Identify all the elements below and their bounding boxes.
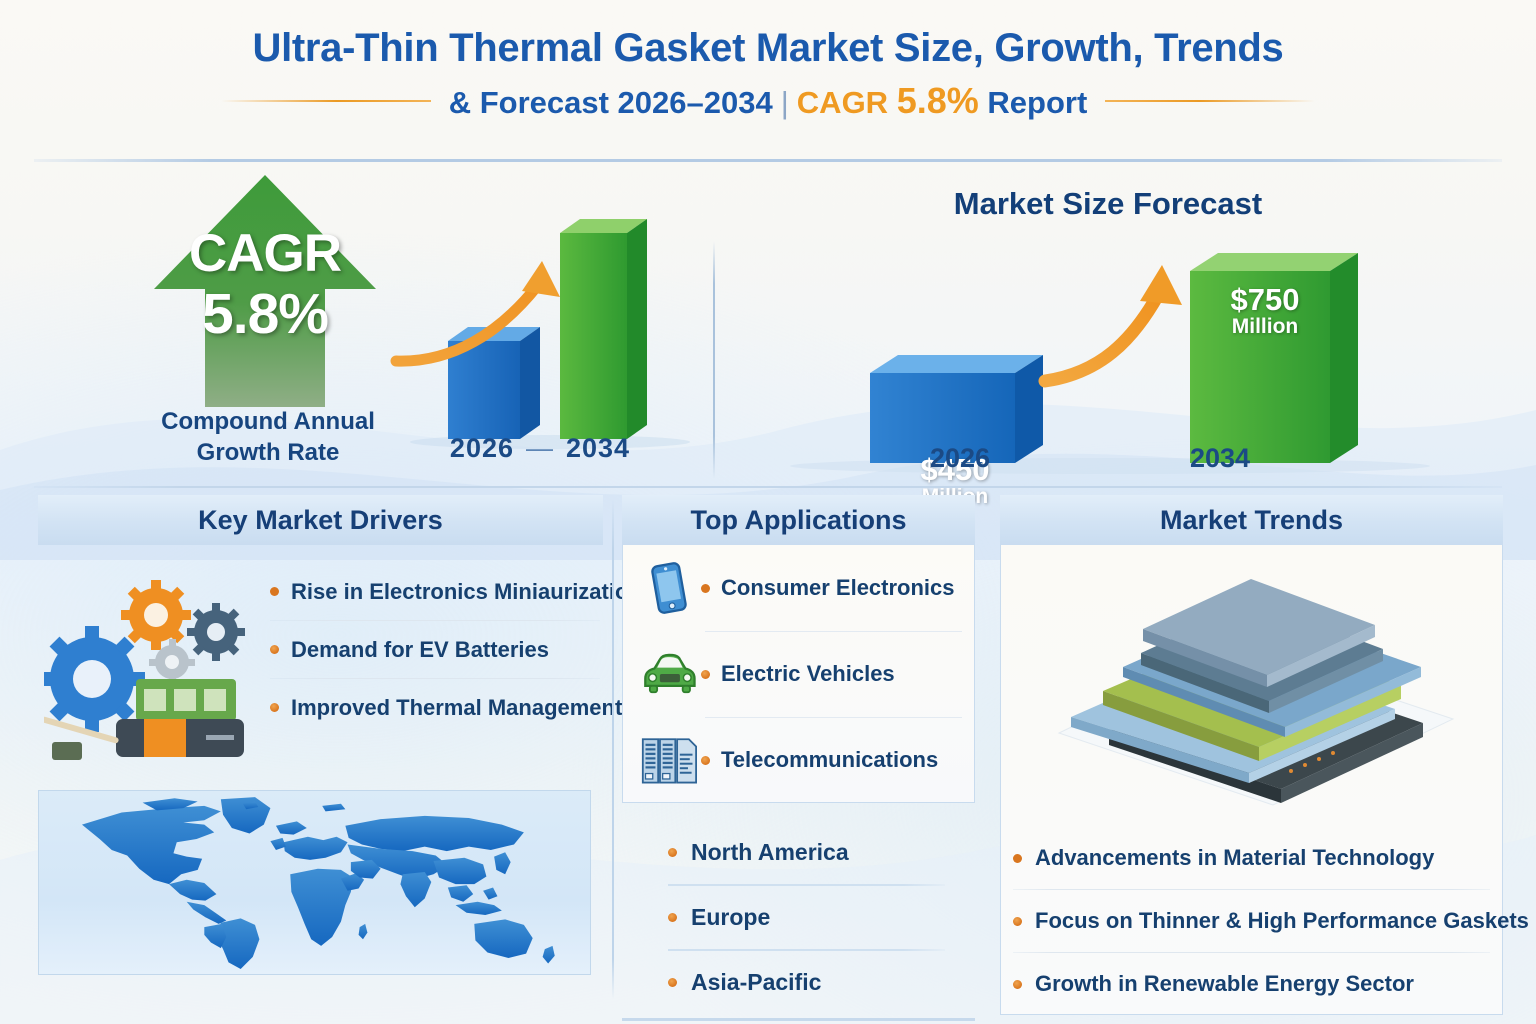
cagr-year-start: 2026 bbox=[450, 433, 514, 463]
regions-bottom-rule bbox=[622, 1018, 975, 1021]
cagr-year-axis: 2026—2034 bbox=[390, 433, 690, 464]
bullet-icon bbox=[270, 645, 279, 654]
cagr-highlight: CAGR 5.8% Compound Annual Growth Rate bbox=[150, 171, 380, 471]
header-divider bbox=[34, 159, 1502, 162]
gear-orange bbox=[121, 580, 191, 650]
gear-large bbox=[44, 626, 145, 732]
application-separator-2 bbox=[705, 717, 962, 718]
trends-column: Market Trends bbox=[1000, 495, 1503, 1015]
cagr-year-end: 2034 bbox=[566, 433, 630, 463]
application-separator-1 bbox=[705, 631, 962, 632]
forecast-bar-2034-label: $750 Million bbox=[1185, 283, 1345, 339]
trend-label-2: Focus on Thinner & High Performance Gask… bbox=[1035, 908, 1529, 934]
page-header: Ultra-Thin Thermal Gasket Market Size, G… bbox=[0, 0, 1536, 160]
application-label-wrap-1: Consumer Electronics bbox=[701, 575, 955, 601]
trend-label-1: Advancements in Material Technology bbox=[1035, 845, 1434, 871]
infographic-page: Ultra-Thin Thermal Gasket Market Size, G… bbox=[0, 0, 1536, 1024]
smartphone-icon bbox=[637, 556, 701, 620]
gear-dark bbox=[187, 603, 245, 661]
region-label-1: North America bbox=[691, 839, 849, 866]
applications-list: Consumer Electronics bbox=[622, 545, 975, 803]
driver-item-3[interactable]: Improved Thermal Management bbox=[270, 679, 600, 736]
bullet-icon bbox=[1013, 917, 1022, 926]
page-subtitle: & Forecast 2026–2034|CAGR 5.8% Report bbox=[449, 80, 1088, 122]
bullet-icon bbox=[701, 584, 710, 593]
car-icon bbox=[637, 642, 701, 706]
gears-and-components-icon bbox=[44, 567, 259, 767]
top-section-bottom-divider bbox=[34, 486, 1502, 488]
application-label-wrap-2: Electric Vehicles bbox=[701, 661, 895, 687]
bullet-icon bbox=[701, 670, 710, 679]
trend-label-3: Growth in Renewable Energy Sector bbox=[1035, 971, 1414, 997]
bullet-icon bbox=[270, 587, 279, 596]
region-label-3: Asia-Pacific bbox=[691, 969, 821, 996]
bullet-icon bbox=[1013, 980, 1022, 989]
driver-item-2[interactable]: Demand for EV Batteries bbox=[270, 621, 600, 678]
trends-content: Advancements in Material Technology Focu… bbox=[1000, 545, 1503, 1015]
drivers-content: Rise in Electronics Miniaurization Deman… bbox=[38, 545, 603, 785]
cagr-caption-line1: Compound Annual bbox=[128, 407, 408, 438]
applications-title: Top Applications bbox=[622, 495, 975, 545]
bullet-icon bbox=[668, 848, 677, 857]
application-label-wrap-3: Telecommunications bbox=[701, 747, 938, 773]
probe bbox=[44, 716, 119, 744]
bullet-icon bbox=[668, 913, 677, 922]
bullet-icon bbox=[701, 756, 710, 765]
subtitle-divider: | bbox=[781, 85, 789, 120]
page-title: Ultra-Thin Thermal Gasket Market Size, G… bbox=[0, 0, 1536, 70]
forecast-bar-2034-unit: Million bbox=[1185, 316, 1345, 339]
middle-column-divider bbox=[612, 499, 614, 999]
trend-item-2[interactable]: Focus on Thinner & High Performance Gask… bbox=[1013, 890, 1490, 952]
subtitle-rule-left bbox=[221, 100, 431, 102]
cagr-year-dash: — bbox=[526, 433, 554, 463]
application-label-1: Consumer Electronics bbox=[721, 575, 955, 601]
forecast-xtick-2026: 2026 bbox=[900, 443, 1020, 474]
small-chip bbox=[52, 742, 82, 760]
trend-item-1[interactable]: Advancements in Material Technology bbox=[1013, 827, 1490, 889]
top-section-vertical-divider bbox=[713, 241, 715, 479]
driver-item-1[interactable]: Rise in Electronics Miniaurization bbox=[270, 563, 600, 620]
forecast-title: Market Size Forecast bbox=[713, 186, 1503, 222]
bullet-icon bbox=[1013, 854, 1022, 863]
subtitle-cagr-label: CAGR bbox=[797, 85, 888, 120]
subtitle-row: & Forecast 2026–2034|CAGR 5.8% Report bbox=[0, 80, 1536, 122]
bullet-icon bbox=[270, 703, 279, 712]
world-map-card bbox=[38, 790, 591, 975]
subtitle-rule-right bbox=[1105, 100, 1315, 102]
cagr-caption-line2: Growth Rate bbox=[128, 438, 408, 469]
driver-label-2: Demand for EV Batteries bbox=[291, 637, 549, 663]
application-item-3[interactable]: Telecommunications bbox=[623, 717, 974, 803]
trends-title: Market Trends bbox=[1000, 495, 1503, 545]
bottom-section: Key Market Drivers bbox=[0, 495, 1536, 1015]
regions-list: North America Europe Asia-Pacific bbox=[622, 817, 975, 1024]
subtitle-report-word: Report bbox=[987, 85, 1087, 120]
driver-label-1: Rise in Electronics Miniaurization bbox=[291, 579, 642, 605]
region-item-1[interactable]: North America bbox=[622, 821, 975, 884]
drivers-title: Key Market Drivers bbox=[38, 495, 603, 545]
cagr-value: 5.8% bbox=[150, 286, 380, 343]
region-label-2: Europe bbox=[691, 904, 770, 931]
cagr-caption: Compound Annual Growth Rate bbox=[128, 407, 408, 468]
trend-item-3[interactable]: Growth in Renewable Energy Sector bbox=[1013, 953, 1490, 1015]
gasket-layer-stack-icon bbox=[1023, 555, 1483, 810]
application-label-3: Telecommunications bbox=[721, 747, 938, 773]
forecast-bar-2034-value: $750 bbox=[1185, 283, 1345, 316]
region-item-2[interactable]: Europe bbox=[622, 886, 975, 949]
subtitle-cagr-value: 5.8% bbox=[897, 80, 979, 121]
drivers-list: Rise in Electronics Miniaurization Deman… bbox=[270, 563, 600, 736]
world-map-icon bbox=[39, 791, 590, 974]
cagr-value-block: CAGR 5.8% bbox=[150, 227, 380, 343]
applications-column: Top Applications bbox=[622, 495, 975, 1024]
application-label-2: Electric Vehicles bbox=[721, 661, 895, 687]
cagr-label: CAGR bbox=[150, 227, 380, 280]
region-item-3[interactable]: Asia-Pacific bbox=[622, 951, 975, 1014]
application-item-2[interactable]: Electric Vehicles bbox=[623, 631, 974, 717]
bullet-icon bbox=[668, 978, 677, 987]
top-section: CAGR 5.8% Compound Annual Growth Rate bbox=[0, 163, 1536, 488]
trends-list: Advancements in Material Technology Focu… bbox=[1013, 827, 1490, 1015]
application-item-1[interactable]: Consumer Electronics bbox=[623, 545, 974, 631]
forecast-xtick-2034: 2034 bbox=[1160, 443, 1280, 474]
drivers-column: Key Market Drivers bbox=[38, 495, 603, 785]
forecast-bar-chart bbox=[760, 223, 1460, 483]
subtitle-forecast-range: & Forecast 2026–2034 bbox=[449, 85, 773, 120]
driver-label-3: Improved Thermal Management bbox=[291, 695, 622, 721]
server-rack-icon bbox=[637, 728, 701, 792]
